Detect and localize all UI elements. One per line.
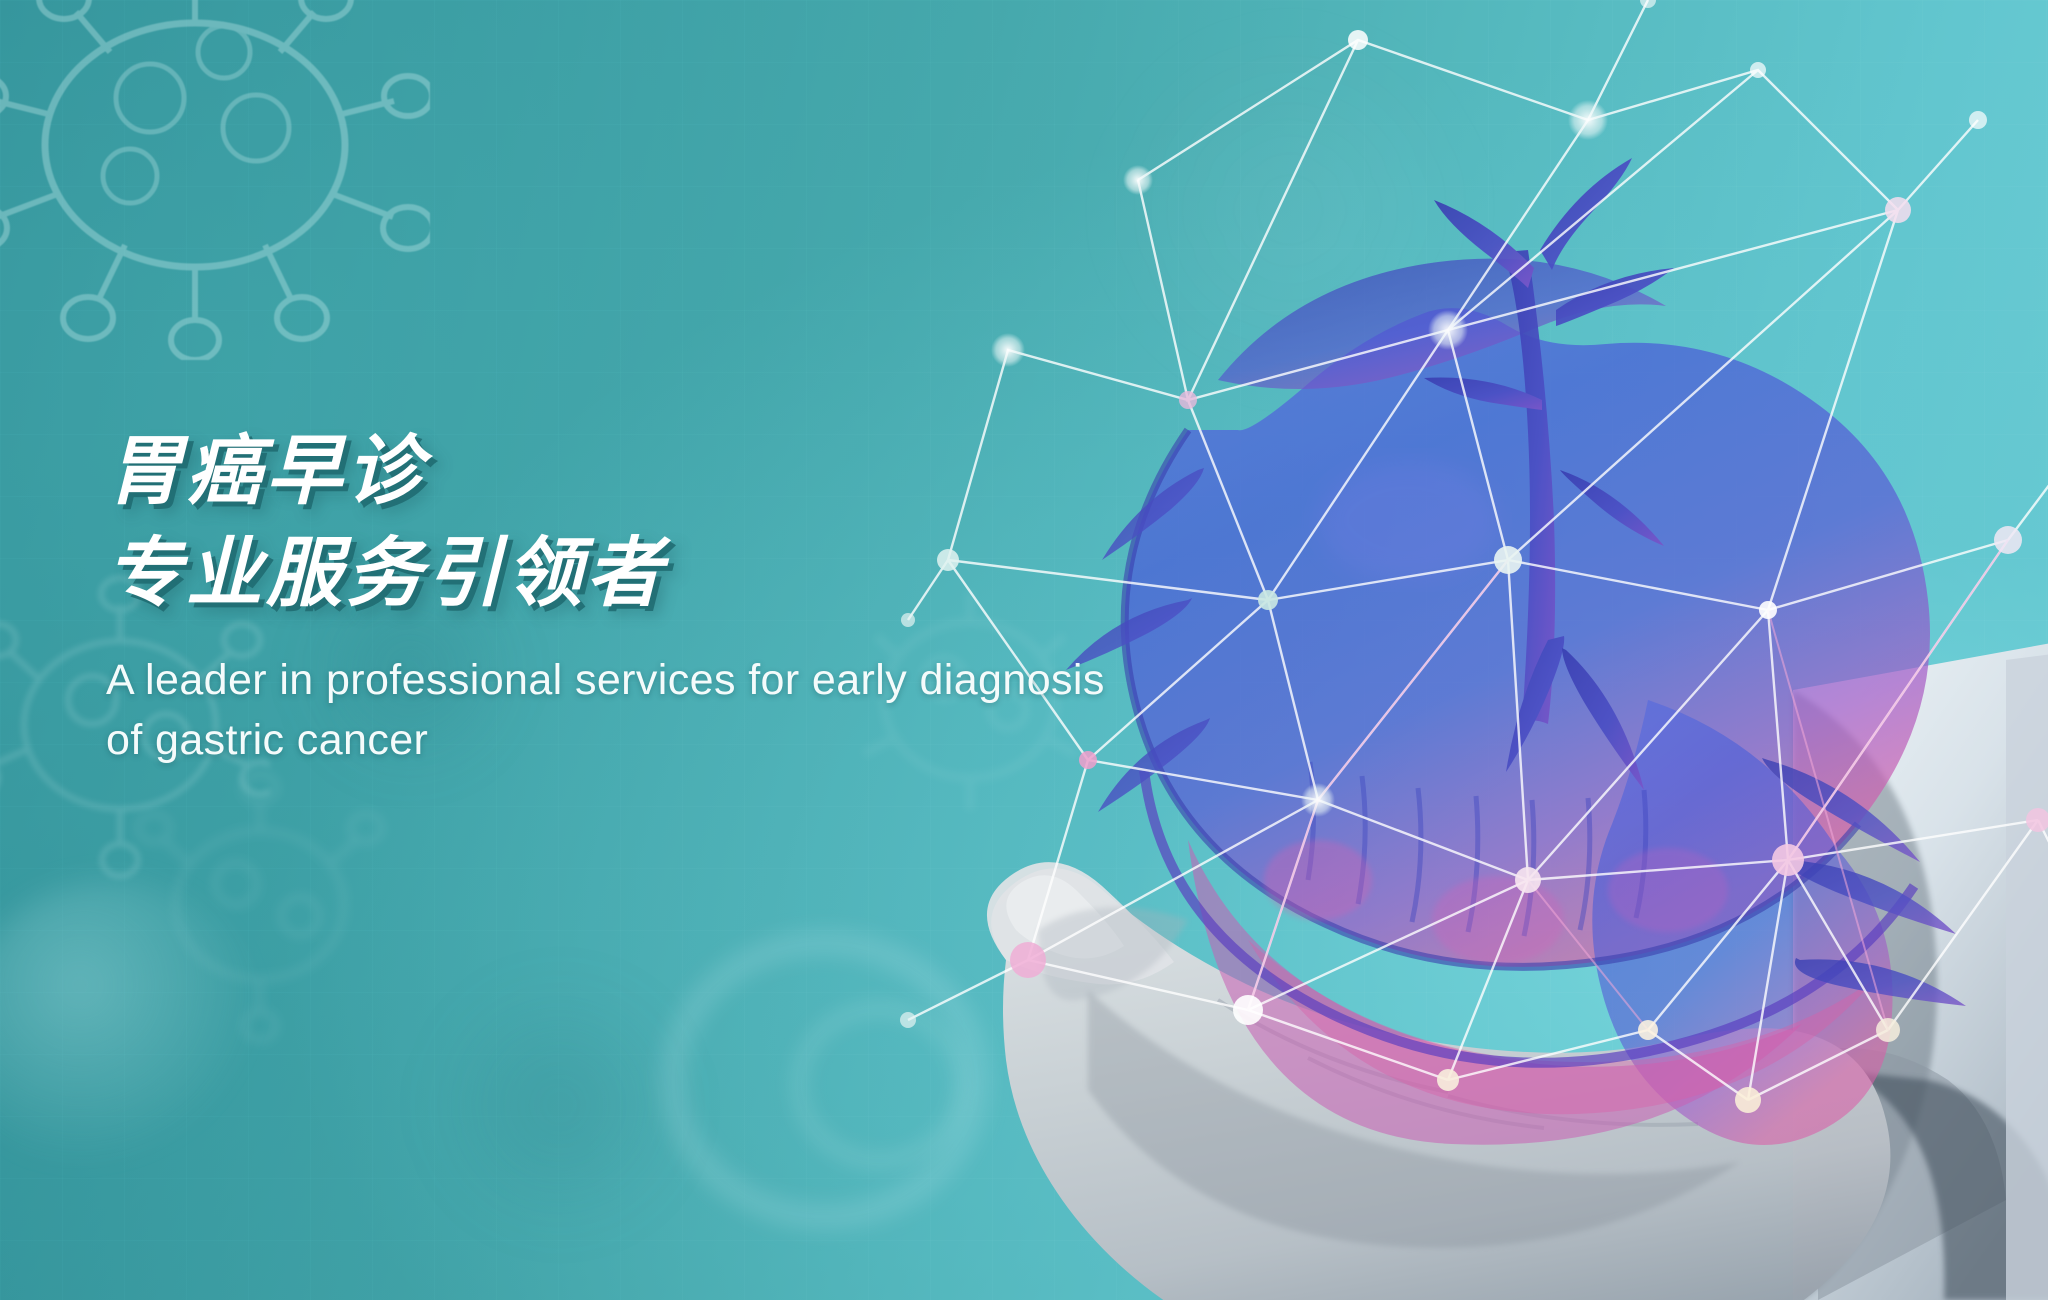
virus-cell-icon [0,0,430,360]
headline-line-1: 胃癌早诊 [106,420,1166,522]
cell-ring-large [660,930,990,1230]
cell-ring-small [790,1000,970,1170]
vascular-branches [1424,158,1674,790]
virus-cell-icon-right [1200,1000,1440,1260]
banner-root: 胃癌早诊 专业服务引领者 A leader in professional se… [0,0,2048,1300]
page-title: 胃癌早诊 专业服务引领者 [106,420,1166,624]
banner-copy: 胃癌早诊 专业服务引领者 A leader in professional se… [106,420,1166,770]
page-subtitle: A leader in professional services for ea… [106,650,1116,770]
bokeh-blob-lower-left [0,880,260,1180]
bokeh-blob-top [1080,30,1500,390]
bokeh-blob-bottom-left [430,980,690,1230]
virus-cell-icon-tertiary [130,760,390,1050]
stomach-organ [1066,158,1966,1145]
headline-line-2: 专业服务引领者 [106,522,1166,624]
